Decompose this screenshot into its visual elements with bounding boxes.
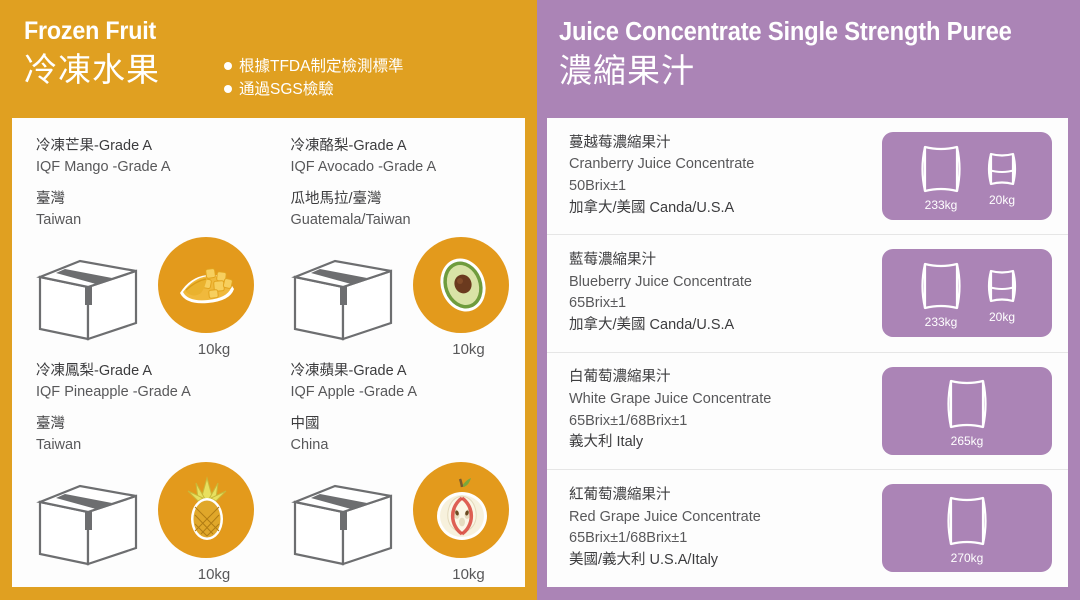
product-name-en: IQF Avocado -Grade A (291, 157, 510, 178)
juice-brix: 65Brix±1/68Brix±1 (569, 528, 882, 550)
product-illustration: 10kg (36, 466, 269, 584)
juice-text-block: 白葡萄濃縮果汁 White Grape Juice Concentrate 65… (569, 367, 882, 454)
juice-row-cranberry[interactable]: 蔓越莓濃縮果汁 Cranberry Juice Concentrate 50Br… (547, 118, 1068, 235)
avocado-half-icon (427, 249, 497, 319)
product-cell-pineapple[interactable]: 冷凍鳳梨-Grade A IQF Pineapple -Grade A 臺灣 T… (28, 361, 269, 586)
carton-box-icon (291, 474, 399, 566)
product-origin-en: Guatemala/Taiwan (291, 210, 510, 231)
product-origin-cn: 瓜地馬拉/臺灣 (291, 189, 510, 210)
drum-large-icon (939, 492, 995, 550)
apple-half-icon (427, 474, 497, 544)
product-cell-apple[interactable]: 冷凍蘋果-Grade A IQF Apple -Grade A 中國 China (269, 361, 510, 586)
product-cell-avocado[interactable]: 冷凍酪梨-Grade A IQF Avocado -Grade A 瓜地馬拉/臺… (269, 136, 510, 361)
drum-large: 265kg (939, 375, 995, 447)
package-weight: 10kg (421, 566, 517, 583)
frozen-fruit-title-en: Frozen Fruit (24, 0, 490, 44)
juice-title-cn: 濃縮果汁 (559, 46, 1068, 89)
bullet-dot-icon (224, 85, 232, 93)
product-illustration: 10kg (36, 241, 269, 359)
product-name-cn: 冷凍酪梨-Grade A (291, 136, 510, 157)
juice-row-white-grape[interactable]: 白葡萄濃縮果汁 White Grape Juice Concentrate 65… (547, 353, 1068, 470)
product-name-cn: 冷凍鳳梨-Grade A (36, 361, 269, 382)
product-illustration: 10kg (291, 466, 510, 584)
juice-text-block: 蔓越莓濃縮果汁 Cranberry Juice Concentrate 50Br… (569, 133, 882, 220)
product-origin-en: Taiwan (36, 435, 269, 456)
juice-origin: 加拿大/美國 Canda/U.S.A (569, 315, 882, 337)
package-badge: 265kg (882, 367, 1052, 455)
juice-row-red-grape[interactable]: 紅葡萄濃縮果汁 Red Grape Juice Concentrate 65Br… (547, 470, 1068, 587)
package-weight-label: 270kg (951, 552, 984, 564)
product-name-en: IQF Apple -Grade A (291, 382, 510, 403)
package-weight-label: 265kg (951, 435, 984, 447)
package-weight-label: 233kg (925, 199, 958, 211)
drum-large-icon (913, 141, 969, 197)
bullet-dot-icon (224, 62, 232, 70)
juice-concentrate-header: Juice Concentrate Single Strength Puree … (547, 0, 1068, 118)
product-illustration: 10kg (291, 241, 510, 359)
juice-brix: 65Brix±1 (569, 293, 882, 315)
juice-text-block: 藍莓濃縮果汁 Blueberry Juice Concentrate 65Bri… (569, 250, 882, 337)
product-origin-en: Taiwan (36, 210, 269, 231)
bullet-item: 根據TFDA制定檢測標準 (224, 55, 403, 78)
product-origin-cn: 臺灣 (36, 189, 269, 210)
product-name-cn: 冷凍蘋果-Grade A (291, 361, 510, 382)
package-weight-label: 20kg (989, 194, 1015, 206)
package-badge: 270kg (882, 484, 1052, 572)
juice-text-block: 紅葡萄濃縮果汁 Red Grape Juice Concentrate 65Br… (569, 485, 882, 572)
frozen-fruit-grid: 冷凍芒果-Grade A IQF Mango -Grade A 臺灣 Taiwa… (28, 136, 509, 586)
juice-name-cn: 白葡萄濃縮果汁 (569, 367, 882, 389)
juice-name-cn: 紅葡萄濃縮果汁 (569, 485, 882, 507)
juice-name-en: Cranberry Juice Concentrate (569, 154, 882, 176)
juice-concentrate-card: 蔓越莓濃縮果汁 Cranberry Juice Concentrate 50Br… (547, 118, 1068, 587)
bullet-text: 根據TFDA制定檢測標準 (239, 55, 403, 78)
carton-box-icon (36, 474, 144, 566)
product-origin-cn: 中國 (291, 414, 510, 435)
package-badge: 233kg 20kg (882, 249, 1052, 337)
juice-origin: 義大利 Italy (569, 432, 882, 454)
product-origin-en: China (291, 435, 510, 456)
drum-small: 20kg (983, 263, 1021, 323)
drum-small: 20kg (983, 146, 1021, 206)
frozen-fruit-panel: Frozen Fruit 冷凍水果 根據TFDA制定檢測標準 通過SGS檢驗 冷… (0, 0, 537, 600)
frozen-fruit-bullet-list: 根據TFDA制定檢測標準 通過SGS檢驗 (224, 55, 403, 102)
drum-large: 233kg (913, 258, 969, 328)
drum-small-icon (983, 263, 1021, 309)
fruit-bubble (413, 462, 509, 558)
drum-large-icon (913, 258, 969, 314)
frozen-fruit-header: Frozen Fruit 冷凍水果 根據TFDA制定檢測標準 通過SGS檢驗 (12, 0, 525, 118)
juice-origin: 加拿大/美國 Canda/U.S.A (569, 198, 882, 220)
bullet-item: 通過SGS檢驗 (224, 78, 403, 101)
juice-brix: 65Brix±1/68Brix±1 (569, 411, 882, 433)
juice-concentrate-panel: Juice Concentrate Single Strength Puree … (537, 0, 1080, 600)
juice-name-en: Red Grape Juice Concentrate (569, 507, 882, 529)
package-badge: 233kg 20kg (882, 132, 1052, 220)
juice-brix: 50Brix±1 (569, 176, 882, 198)
fruit-bubble (158, 237, 254, 333)
product-name-en: IQF Pineapple -Grade A (36, 382, 269, 403)
juice-title-en: Juice Concentrate Single Strength Puree (559, 0, 1032, 46)
package-weight-label: 20kg (989, 311, 1015, 323)
drum-large: 270kg (939, 492, 995, 564)
product-name-cn: 冷凍芒果-Grade A (36, 136, 269, 157)
juice-row-blueberry[interactable]: 藍莓濃縮果汁 Blueberry Juice Concentrate 65Bri… (547, 235, 1068, 352)
mango-slices-icon (172, 249, 242, 319)
package-weight: 10kg (166, 566, 262, 583)
product-name-en: IQF Mango -Grade A (36, 157, 269, 178)
juice-name-cn: 藍莓濃縮果汁 (569, 250, 882, 272)
package-weight-label: 233kg (925, 316, 958, 328)
product-cell-mango[interactable]: 冷凍芒果-Grade A IQF Mango -Grade A 臺灣 Taiwa… (28, 136, 269, 361)
package-weight: 10kg (421, 341, 517, 358)
carton-box-icon (36, 249, 144, 341)
drum-large: 233kg (913, 141, 969, 211)
fruit-bubble (413, 237, 509, 333)
package-weight: 10kg (166, 341, 262, 358)
drum-large-icon (939, 375, 995, 433)
juice-name-en: Blueberry Juice Concentrate (569, 272, 882, 294)
pineapple-icon (172, 474, 242, 544)
product-origin-cn: 臺灣 (36, 414, 269, 435)
frozen-fruit-card: 冷凍芒果-Grade A IQF Mango -Grade A 臺灣 Taiwa… (12, 118, 525, 587)
juice-origin: 美國/義大利 U.S.A/Italy (569, 550, 882, 572)
juice-name-en: White Grape Juice Concentrate (569, 389, 882, 411)
fruit-bubble (158, 462, 254, 558)
carton-box-icon (291, 249, 399, 341)
drum-small-icon (983, 146, 1021, 192)
juice-name-cn: 蔓越莓濃縮果汁 (569, 133, 882, 155)
product-catalog-page: Frozen Fruit 冷凍水果 根據TFDA制定檢測標準 通過SGS檢驗 冷… (0, 0, 1080, 600)
bullet-text: 通過SGS檢驗 (239, 78, 334, 101)
